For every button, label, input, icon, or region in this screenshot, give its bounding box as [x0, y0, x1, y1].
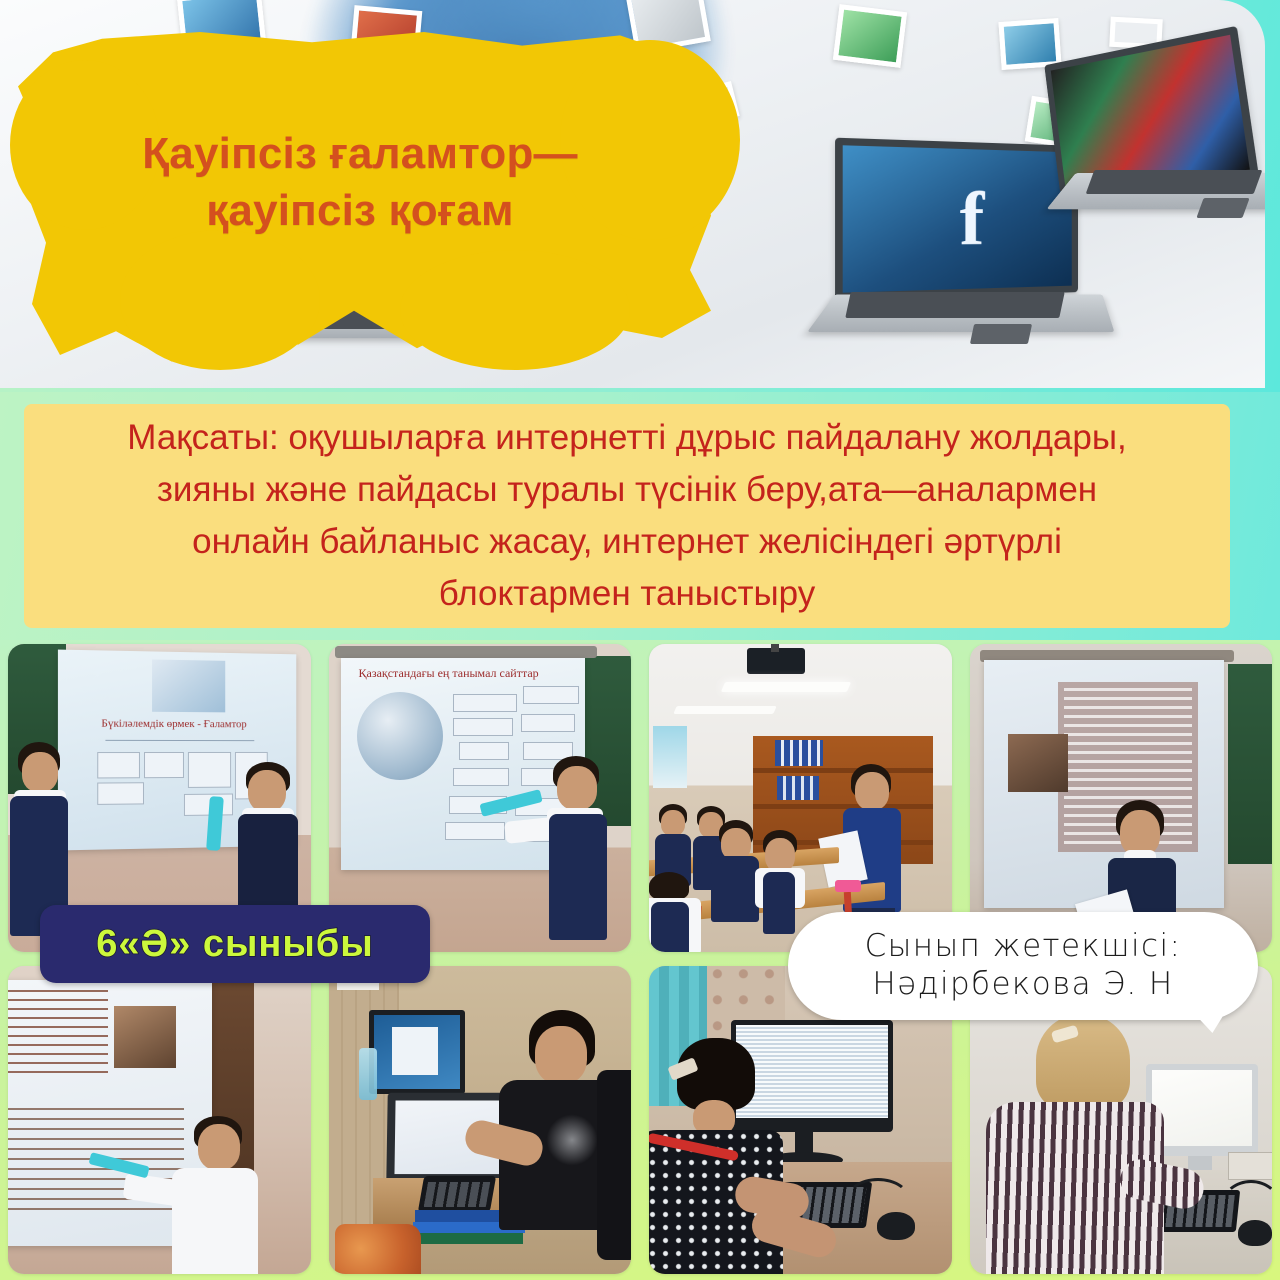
head	[22, 752, 58, 792]
head	[248, 770, 286, 812]
head	[198, 1124, 240, 1170]
seated-student-4	[753, 830, 813, 942]
slide-connector	[105, 740, 254, 741]
boy-pointing	[158, 1116, 278, 1274]
slide-image	[152, 659, 225, 712]
facebook-f-icon: f	[960, 181, 985, 257]
photo-cell-4	[970, 644, 1273, 952]
brush-blob-c	[120, 230, 320, 370]
class-badge: 6«Ә» сыныбы	[40, 905, 430, 983]
floating-icon-tile-4	[833, 4, 907, 68]
class-badge-label: 6«Ә» сыныбы	[40, 923, 430, 966]
fruit-bag	[335, 1224, 421, 1274]
slide-title-1: Бүкіләлемдік өрмек - Ғаламтор	[101, 717, 246, 730]
student-pointing	[527, 756, 623, 952]
laptop-keyboard	[845, 292, 1065, 318]
screen-roller	[335, 646, 597, 658]
water-bottle	[359, 1048, 377, 1100]
desktop-monitor	[369, 1010, 465, 1094]
wall-poster	[653, 726, 687, 788]
teacher-name: Нәдірбекова Э. Н	[872, 966, 1173, 1004]
slide-node	[97, 782, 144, 805]
head	[661, 810, 685, 836]
teacher-card: Сынып жетекшісі: Нәдірбекова Э. Н	[788, 912, 1258, 1020]
teacher-label: Сынып жетекшісі:	[865, 928, 1182, 966]
head	[765, 838, 795, 872]
head	[557, 766, 597, 810]
laptop-media-screen	[1040, 46, 1265, 276]
mouse-cable	[1222, 1180, 1273, 1228]
mouse-cable	[845, 1178, 911, 1224]
binder-stack-2	[777, 776, 819, 800]
blonde-hair	[1036, 1014, 1130, 1110]
laptop-screen-media	[1044, 26, 1259, 194]
goal-card: Мақсаты: оқушыларға интернетті дұрыс пай…	[24, 404, 1230, 628]
poster-root: f Қауіпсіз ғаламтор— қауіпсіз қоғам Мақс…	[0, 0, 1280, 1280]
vest	[549, 814, 607, 940]
header-banner: f Қауіпсіз ғаламтор— қауіпсіз қоғам	[0, 0, 1280, 392]
monitor-screen	[374, 1015, 460, 1089]
slide-text-block-top	[8, 990, 108, 1076]
pink-case	[835, 880, 861, 892]
office-chair	[597, 1070, 631, 1260]
chalkboard	[1228, 664, 1272, 864]
head	[535, 1026, 587, 1084]
window-chrome	[392, 1027, 438, 1075]
calculator	[417, 1176, 495, 1212]
vest	[651, 902, 689, 952]
globe-graphic	[357, 692, 443, 780]
slide-node	[188, 752, 231, 788]
woman-at-desk	[493, 1010, 631, 1274]
laptop-trackpad	[970, 324, 1032, 344]
slide-inset-photo	[114, 1006, 176, 1068]
binder-stack	[775, 740, 823, 766]
slide-node	[445, 822, 505, 840]
slide-node	[459, 742, 509, 760]
calculator-keys	[423, 1182, 489, 1207]
slide-node	[521, 714, 575, 732]
vest	[711, 856, 759, 922]
photo-cell-6	[329, 966, 632, 1274]
ceiling-light-1	[721, 682, 851, 692]
projector-mount	[771, 644, 779, 652]
goal-text: Мақсаты: оқушыларға интернетті дұрыс пай…	[57, 412, 1197, 619]
head	[855, 772, 889, 810]
photo-cell-5	[8, 966, 311, 1274]
poster-title: Қауіпсіз ғаламтор— қауіпсіз қоғам	[60, 125, 660, 239]
slide-node	[453, 768, 509, 786]
slide-node	[453, 694, 517, 712]
slide-node	[144, 752, 184, 778]
slide-title-2: Қазақстандағы ең танымал сайттар	[359, 666, 539, 681]
brush-blob-d	[400, 250, 630, 370]
photo-cell-3	[649, 644, 952, 952]
tshirt-print	[545, 1114, 599, 1166]
slide-inset-photo	[1008, 734, 1068, 792]
vest	[763, 872, 795, 934]
speech-tail	[1192, 1015, 1223, 1033]
woman-typing	[649, 1038, 789, 1274]
laptop-trackpad	[1196, 198, 1249, 218]
slide-node	[97, 752, 140, 778]
ceiling-light-2	[673, 706, 777, 714]
hair	[649, 872, 689, 900]
woman-striped-shirt	[990, 1014, 1180, 1274]
speaker-box	[1228, 1152, 1273, 1180]
seated-student-front	[649, 872, 713, 952]
laptop-keyboard	[1086, 170, 1263, 194]
slide-node	[453, 718, 513, 736]
slide-node	[523, 686, 579, 704]
